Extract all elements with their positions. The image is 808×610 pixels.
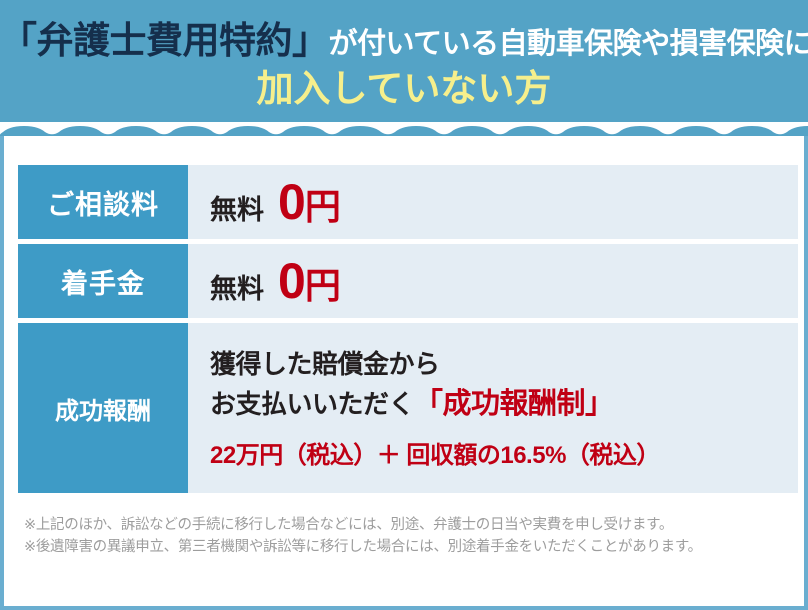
amount-unit: 円 bbox=[305, 186, 340, 227]
amount-number: 0 bbox=[278, 253, 305, 309]
success-fee-calculation: 22万円（税込）＋ 回収額の16.5%（税込） bbox=[210, 435, 798, 470]
success-fee-plain-text: お支払いいただく bbox=[210, 389, 414, 419]
success-fee-line-2: お支払いいただく「成功報酬制」 bbox=[210, 383, 798, 425]
amount-number: 0 bbox=[278, 174, 305, 230]
table-row: 成功報酬 獲得した賠償金から お支払いいただく「成功報酬制」 22万円（税込）＋… bbox=[18, 323, 798, 493]
header-headline-secondary: 加入していない方 bbox=[0, 59, 808, 107]
footnotes: ※上記のほか、訴訟などの手続に移行した場合などには、別途、弁護士の日当や実費を申… bbox=[18, 498, 790, 559]
amount-unit: 円 bbox=[305, 265, 340, 306]
header-highlight-text: 加入していない方 bbox=[257, 68, 552, 109]
free-label: 無料 bbox=[210, 274, 264, 304]
row-value-retainer: 無料0円 bbox=[188, 244, 798, 318]
amount-consultation: 0円 bbox=[278, 206, 340, 223]
pricing-table: ご相談料 無料0円 着手金 無料0円 成功報酬 獲得した賠償金から お支払いい bbox=[18, 160, 798, 498]
success-fee-line-1: 獲得した賠償金から bbox=[210, 346, 798, 384]
row-label-consultation: ご相談料 bbox=[18, 165, 188, 239]
row-value-consultation: 無料0円 bbox=[188, 165, 798, 239]
table-row: 着手金 無料0円 bbox=[18, 244, 798, 318]
pricing-banner: 「弁護士費用特約」が付いている自動車保険や損害保険に 加入していない方 ご相談料… bbox=[0, 0, 808, 610]
table-row: ご相談料 無料0円 bbox=[18, 165, 798, 239]
banner-header: 「弁護士費用特約」が付いている自動車保険や損害保険に 加入していない方 bbox=[0, 0, 808, 136]
amount-retainer: 0円 bbox=[278, 285, 340, 302]
footnote-item: ※上記のほか、訴訟などの手続に移行した場合などには、別途、弁護士の日当や実費を申… bbox=[24, 514, 790, 536]
row-label-success-fee: 成功報酬 bbox=[18, 323, 188, 493]
pricing-card: ご相談料 無料0円 着手金 無料0円 成功報酬 獲得した賠償金から お支払いい bbox=[0, 136, 808, 610]
header-emphasis-text: 「弁護士費用特約」 bbox=[0, 20, 329, 61]
free-label: 無料 bbox=[210, 195, 264, 225]
success-fee-highlight-text: 「成功報酬制」 bbox=[414, 388, 614, 420]
wave-scallop-divider-icon bbox=[0, 122, 808, 136]
row-value-success-fee: 獲得した賠償金から お支払いいただく「成功報酬制」 22万円（税込）＋ 回収額の… bbox=[188, 323, 798, 493]
header-normal-text: が付いている自動車保険や損害保険に bbox=[329, 28, 808, 60]
header-headline-primary: 「弁護士費用特約」が付いている自動車保険や損害保険に bbox=[0, 14, 808, 59]
row-label-retainer: 着手金 bbox=[18, 244, 188, 318]
footnote-item: ※後遺障害の異議申立、第三者機関や訴訟等に移行した場合には、別途着手金をいただく… bbox=[24, 536, 790, 558]
